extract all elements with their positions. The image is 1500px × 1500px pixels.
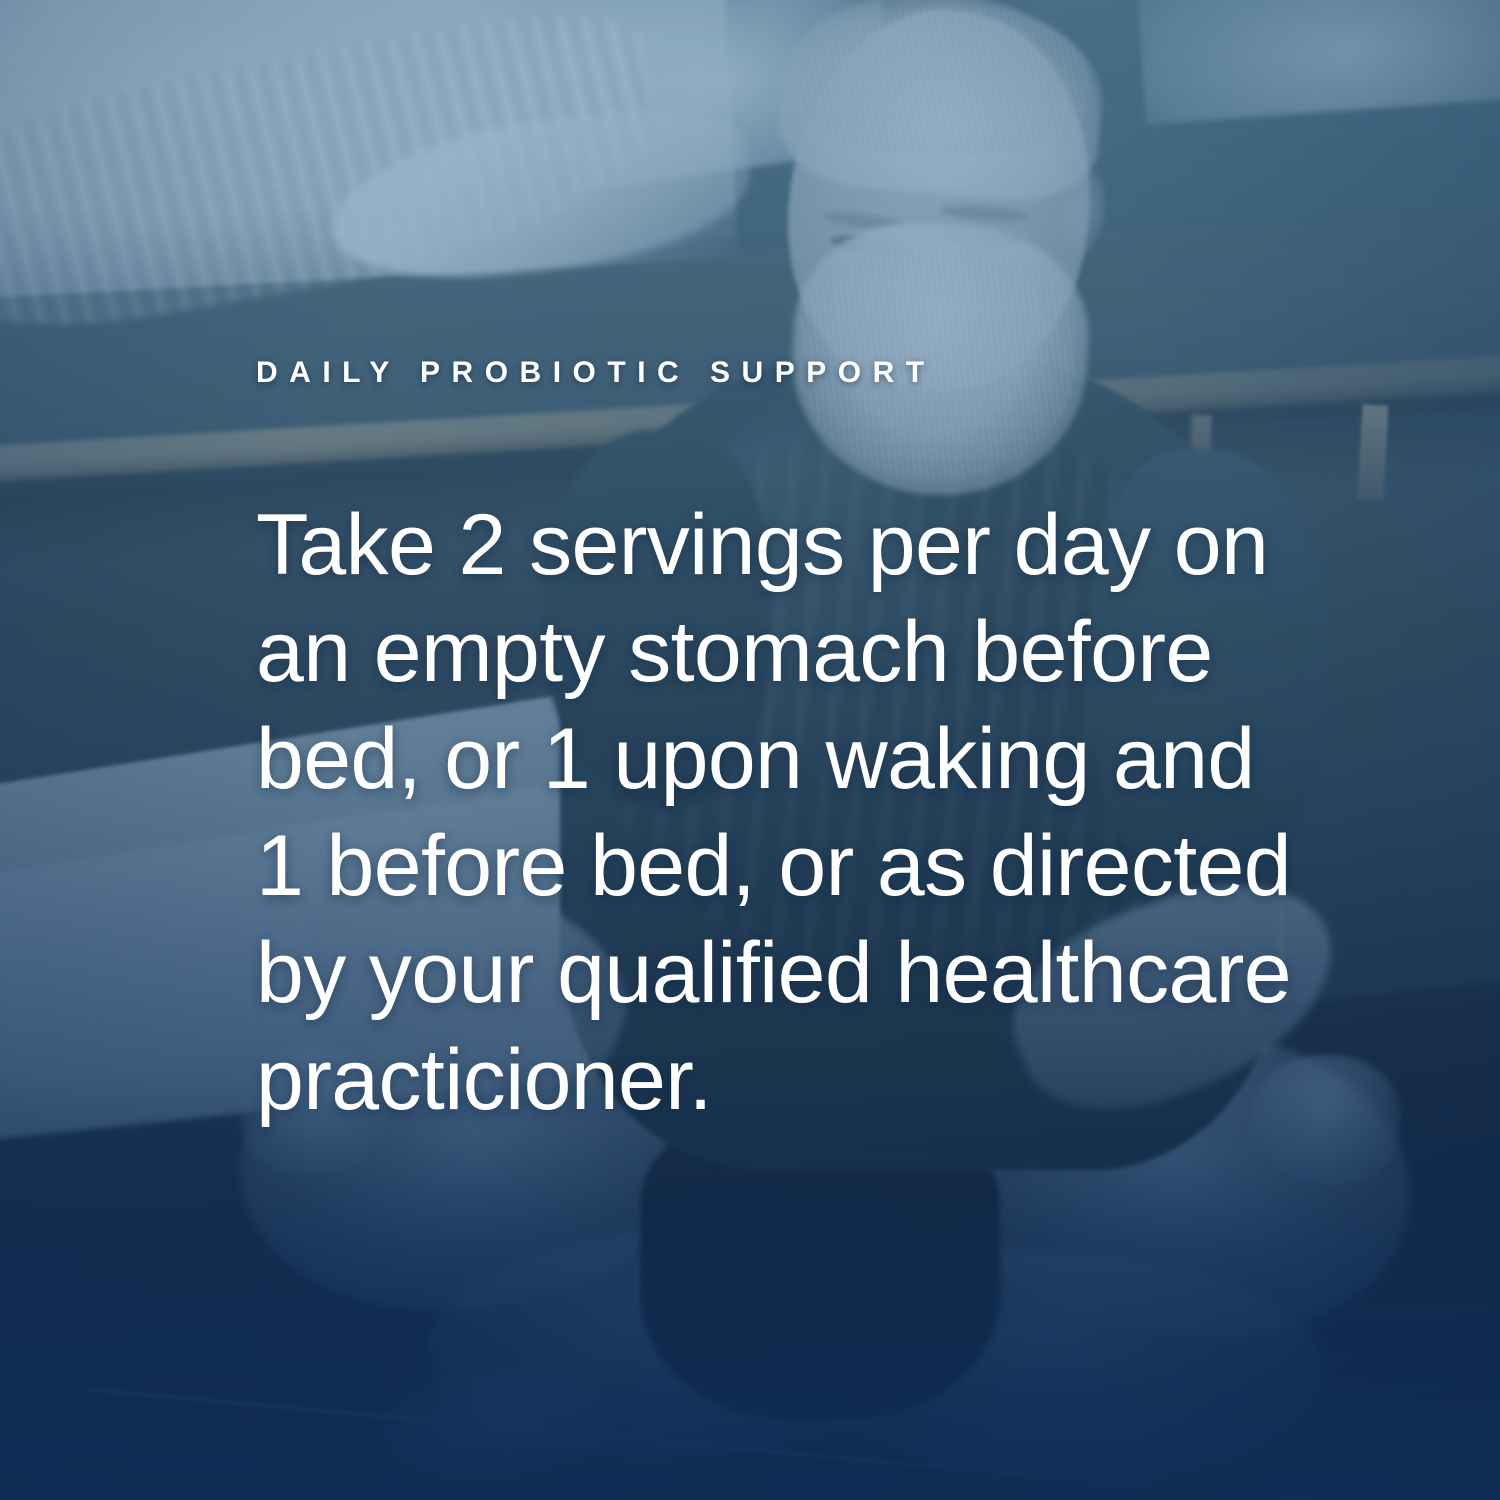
headline-block: Take 2 servings per day on an empty stom… bbox=[256, 492, 1266, 1134]
headline-line-6: practicioner. bbox=[256, 1027, 1266, 1134]
text-content-layer: DAILY PROBIOTIC SUPPORT Take 2 servings … bbox=[0, 0, 1500, 1500]
headline-line-3: bed, or 1 upon waking and bbox=[256, 706, 1266, 813]
eyebrow-label: DAILY PROBIOTIC SUPPORT bbox=[256, 358, 936, 388]
headline-line-5: by your qualified healthcare bbox=[256, 920, 1266, 1027]
headline-line-4: 1 before bed, or as directed bbox=[256, 813, 1266, 920]
promo-poster: DAILY PROBIOTIC SUPPORT Take 2 servings … bbox=[0, 0, 1500, 1500]
headline-line-1: Take 2 servings per day on bbox=[256, 492, 1266, 599]
headline-line-2: an empty stomach before bbox=[256, 599, 1266, 706]
